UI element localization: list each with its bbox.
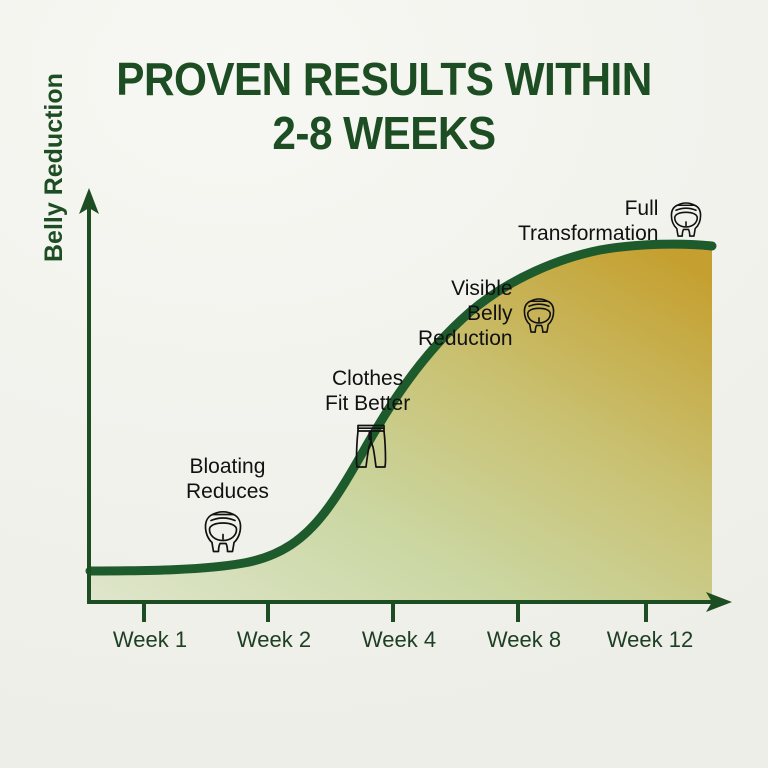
- infographic-canvas: PROVEN RESULTS WITHIN 2-8 WEEKS: [0, 0, 768, 768]
- pants-icon: [349, 420, 393, 470]
- annotation-visible-belly-reduction-text: Visible Belly Reduction: [418, 276, 513, 351]
- annotation-clothes-fit-better: Clothes Fit Better: [325, 366, 410, 470]
- annotation-bloating-reduces-text: Bloating Reduces: [186, 454, 269, 504]
- x-tick-label-week-4: Week 4: [362, 627, 436, 653]
- x-axis-ticks: [144, 602, 646, 622]
- annotation-full-transformation-text: Full Transformation: [518, 196, 658, 246]
- y-axis-title: Belly Reduction: [40, 2, 69, 262]
- annotation-clothes-fit-better-text: Clothes Fit Better: [325, 366, 410, 416]
- belly-icon: [199, 508, 247, 554]
- x-tick-label-week-1: Week 1: [113, 627, 187, 653]
- belly-icon: [666, 198, 706, 240]
- annotation-bloating-reduces: Bloating Reduces: [186, 454, 269, 554]
- belly-icon: [519, 294, 559, 336]
- x-tick-label-week-12: Week 12: [607, 627, 693, 653]
- annotation-full-transformation: Full Transformation: [518, 196, 706, 246]
- annotation-visible-belly-reduction: Visible Belly Reduction: [418, 276, 559, 351]
- y-axis: [79, 188, 99, 604]
- x-tick-label-week-2: Week 2: [237, 627, 311, 653]
- x-tick-label-week-8: Week 8: [487, 627, 561, 653]
